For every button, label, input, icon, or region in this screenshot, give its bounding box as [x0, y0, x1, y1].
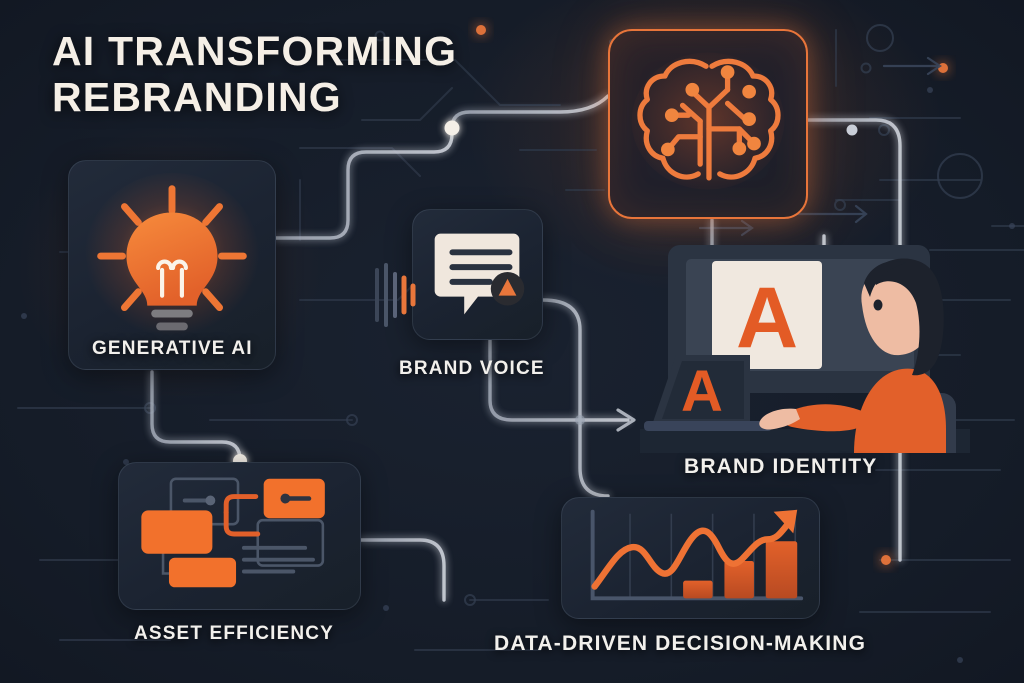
designer-at-computer-icon: A A: [640, 243, 970, 453]
label-brand-voice: Brand Voice: [399, 358, 545, 380]
label-data-driven: Data-Driven Decision-Making: [494, 632, 866, 656]
growth-chart-icon: [562, 498, 819, 618]
speech-bubble-icon: [413, 210, 542, 339]
node-card-data-driven[interactable]: [561, 497, 820, 619]
label-brand-identity: Brand Identity: [684, 455, 877, 479]
node-card-brand-voice[interactable]: [412, 209, 543, 340]
title-line-1: AI Transforming: [52, 28, 457, 74]
chart-bar: [724, 561, 754, 598]
node-card-asset-efficiency[interactable]: [118, 462, 361, 610]
laptop-letter: A: [681, 359, 723, 424]
chart-bar: [683, 581, 713, 599]
laptop-base: [644, 421, 772, 431]
asset-blocks-icon: [119, 463, 360, 609]
label-generative-ai: Generative AI: [92, 338, 253, 360]
infographic-canvas: AI Transforming Rebranding: [0, 0, 1024, 683]
node-card-brand-identity[interactable]: A A: [640, 243, 970, 453]
chart-trend-line: [595, 520, 792, 587]
asset-block-2: [141, 510, 212, 553]
chart-bar: [766, 541, 797, 598]
page-title: AI Transforming Rebranding: [52, 28, 612, 121]
sound-waves-icon: [372, 252, 418, 338]
asset-block-3: [169, 558, 236, 588]
title-line-2: Rebranding: [52, 74, 612, 120]
person-eye: [874, 300, 883, 311]
monitor-letter: A: [736, 270, 798, 366]
ai-brain-icon: [610, 31, 806, 217]
node-card-ai-brain[interactable]: [608, 29, 808, 219]
label-asset-efficiency: Asset Efficiency: [134, 623, 334, 645]
